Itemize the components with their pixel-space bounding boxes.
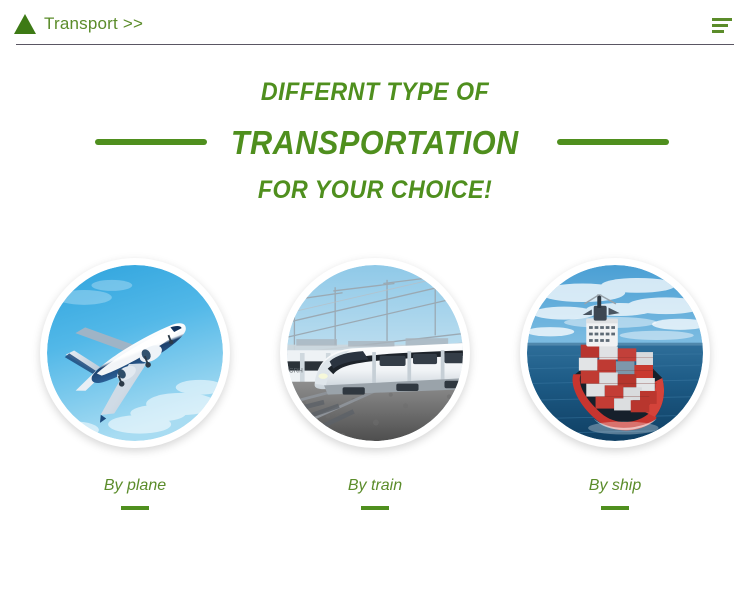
train-photo: CRH: [287, 265, 463, 441]
plane-photo: [47, 265, 223, 441]
train-circle-frame[interactable]: CRH: [280, 258, 470, 448]
transport-card-plane[interactable]: By plane: [40, 258, 230, 510]
header-divider: [16, 44, 734, 45]
title-accent-bar-left: [95, 139, 207, 145]
brand-area[interactable]: Transport >>: [14, 14, 143, 34]
transport-card-train[interactable]: CRH: [280, 258, 470, 510]
hamburger-bar-middle: [712, 24, 728, 27]
triangle-up-icon: [14, 14, 36, 34]
card-label-plane[interactable]: By plane: [104, 478, 166, 494]
page-header: Transport >>: [0, 0, 750, 46]
plane-circle-frame[interactable]: [40, 258, 230, 448]
transport-options-list: By plane: [0, 258, 750, 510]
hamburger-menu-icon[interactable]: [712, 18, 732, 33]
title-line-2: TRANSPORTATION: [231, 126, 519, 159]
card-label-ship[interactable]: By ship: [589, 478, 641, 494]
title-main-row: TRANSPORTATION: [0, 121, 750, 163]
ship-photo: [527, 265, 703, 441]
card-underline-plane: [121, 506, 149, 510]
title-line-3: FOR YOUR CHOICE!: [26, 178, 724, 203]
card-label-train[interactable]: By train: [348, 478, 402, 494]
svg-text:CRH: CRH: [289, 367, 303, 374]
card-underline-train: [361, 506, 389, 510]
title-accent-bar-right: [557, 139, 669, 145]
transport-card-ship[interactable]: By ship: [520, 258, 710, 510]
hamburger-bar-bottom: [712, 30, 724, 33]
brand-title: Transport >>: [44, 14, 143, 34]
hamburger-bar-top: [712, 18, 732, 21]
page-title-block: DIFFERNT TYPE OF TRANSPORTATION FOR YOUR…: [0, 80, 750, 203]
title-line-1: DIFFERNT TYPE OF: [26, 80, 724, 105]
ship-circle-frame[interactable]: [520, 258, 710, 448]
card-underline-ship: [601, 506, 629, 510]
